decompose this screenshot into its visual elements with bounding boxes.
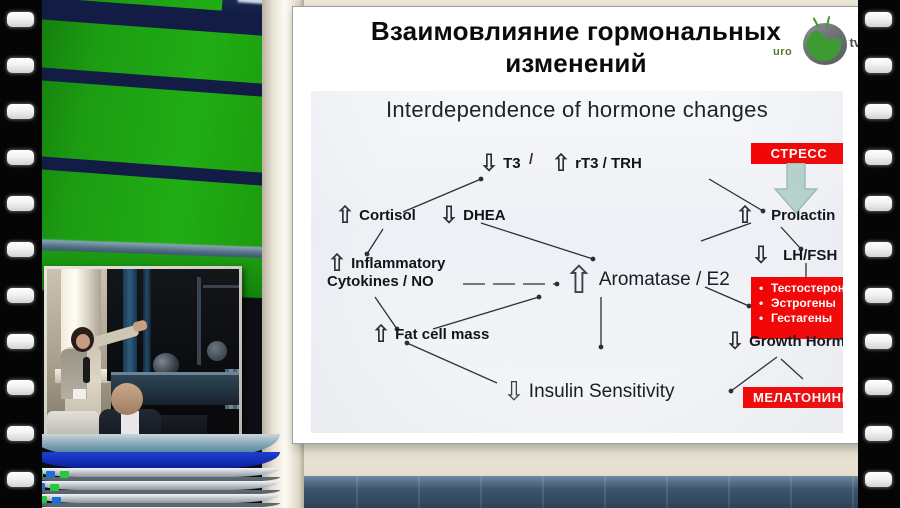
desk-band — [30, 481, 280, 490]
photo-audience-member-head — [111, 383, 143, 415]
filmstrip-sprocket-hole — [7, 242, 34, 257]
photo-speaker-badge — [73, 389, 86, 399]
sex-hormone-testosterone: Тестостерон — [771, 281, 843, 295]
node-rt3-trh-label: rT3 / TRH — [575, 155, 642, 172]
filmstrip-sprocket-hole — [7, 426, 34, 441]
logo-dot-icon — [809, 31, 824, 46]
desk-band — [30, 494, 280, 503]
arrow-down-icon: ⇩ — [439, 203, 459, 227]
filmstrip-sprocket-hole — [865, 472, 892, 487]
filmstrip-sprocket-hole — [865, 58, 892, 73]
node-cytokines-label: Cytokines / NO — [327, 273, 434, 290]
bullet-icon: • — [759, 311, 771, 326]
node-rt3-trh: ⇧ rT3 / TRH — [551, 151, 642, 175]
urotv-logo: uro tv — [771, 15, 860, 71]
video-player-frame: Взаимовлияние гормональных изменений uro… — [0, 0, 900, 508]
node-fat-cell-mass: ⇧ Fat cell mass — [371, 322, 489, 346]
node-t3: ⇩ T3 — [479, 151, 521, 175]
bullet-icon: • — [759, 296, 771, 311]
speaker-photo-content — [47, 269, 239, 435]
studio-news-desk — [30, 434, 280, 508]
node-cortisol-label: Cortisol — [359, 207, 416, 224]
speaker-inset-photo — [44, 266, 242, 438]
arrow-down-icon: ⇩ — [479, 151, 499, 175]
desk-led — [60, 471, 69, 478]
photo-light-rig — [203, 285, 239, 288]
filmstrip-left-border — [0, 0, 42, 508]
arrow-down-icon: ⇩ — [503, 379, 525, 405]
photo-stage-light — [207, 341, 227, 361]
slide-title-line-1: Взаимовлияние гормональных — [299, 15, 853, 47]
filmstrip-sprocket-hole — [865, 426, 892, 441]
slide-title-line-2: изменений — [299, 47, 853, 79]
filmstrip-sprocket-hole — [865, 12, 892, 27]
filmstrip-sprocket-hole — [865, 334, 892, 349]
presentation-slide: Взаимовлияние гормональных изменений uro… — [292, 6, 860, 444]
arrow-down-icon: ⇩ — [725, 329, 745, 353]
node-growth-hormone: ⇩ Growth Hormone — [725, 329, 843, 353]
node-separator: / — [529, 151, 533, 168]
desk-led — [50, 484, 59, 491]
desk-led — [46, 471, 55, 478]
photo-speaker-face — [76, 334, 90, 349]
filmstrip-sprocket-hole — [865, 242, 892, 257]
sex-hormone-gestagens: Гестагены — [771, 311, 832, 325]
photo-microphone — [83, 357, 90, 383]
node-dhea: ⇩ DHEA — [439, 203, 506, 227]
node-dhea-label: DHEA — [463, 207, 506, 224]
photo-audience-chair — [157, 415, 207, 435]
node-insulin-sensitivity-label: Insulin Sensitivity — [529, 381, 675, 403]
filmstrip-sprocket-hole — [7, 288, 34, 303]
logo-wordmark: uro — [773, 46, 792, 58]
filmstrip-sprocket-hole — [7, 104, 34, 119]
arrow-up-icon: ⇧ — [551, 151, 571, 175]
node-aromatase-label: Aromatase / E2 — [599, 269, 730, 291]
logo-emblem-icon — [803, 23, 847, 65]
photo-audience-chair — [47, 411, 99, 435]
desk-led — [52, 497, 61, 504]
arrow-up-icon: ⇧ — [335, 203, 355, 227]
desk-blue-accent — [30, 452, 280, 468]
melatonin-badge: МЕЛАТОНИНИ — [743, 387, 843, 408]
bullet-icon: • — [759, 281, 771, 296]
hormone-interdependence-diagram: Interdependence of hormone changes — [311, 91, 843, 433]
node-insulin-sensitivity: ⇩ Insulin Sensitivity — [503, 379, 675, 405]
filmstrip-sprocket-hole — [865, 288, 892, 303]
filmstrip-sprocket-hole — [865, 150, 892, 165]
filmstrip-sprocket-hole — [7, 150, 34, 165]
node-cortisol: ⇧ Cortisol — [335, 203, 416, 227]
stress-badge: СТРЕСС — [751, 143, 843, 164]
arrow-up-icon: ⇧ — [563, 261, 595, 299]
stress-down-arrow-icon — [773, 163, 819, 215]
separator-label: / — [529, 151, 533, 168]
node-cytokines: Cytokines / NO — [327, 273, 434, 290]
filmstrip-sprocket-hole — [865, 196, 892, 211]
filmstrip-sprocket-hole — [7, 196, 34, 211]
filmstrip-sprocket-hole — [7, 334, 34, 349]
green-screen-wall — [42, 0, 294, 272]
photo-light-rig — [197, 277, 201, 365]
node-fat-cell-mass-label: Fat cell mass — [395, 326, 489, 343]
filmstrip-sprocket-hole — [7, 12, 34, 27]
filmstrip-sprocket-hole — [7, 380, 34, 395]
arrow-up-icon: ⇧ — [371, 322, 391, 346]
filmstrip-right-border — [858, 0, 900, 508]
filmstrip-sprocket-hole — [7, 472, 34, 487]
sex-hormones-item: •Тестостерон — [759, 281, 843, 296]
filmstrip-sprocket-hole — [865, 104, 892, 119]
node-inflammatory-label: Inflammatory — [351, 255, 445, 272]
node-growth-hormone-label: Growth Hormone — [749, 333, 843, 350]
node-t3-label: T3 — [503, 155, 521, 172]
node-lh-fsh-label: LH/FSH — [783, 247, 837, 264]
room-floor-band — [294, 476, 858, 508]
sex-hormones-item: •Гестагены — [759, 311, 843, 326]
arrow-down-icon: ⇩ — [751, 243, 771, 267]
filmstrip-sprocket-hole — [865, 380, 892, 395]
filmstrip-sprocket-hole — [7, 58, 34, 73]
node-lh-fsh: ⇩ LH/FSH — [751, 243, 837, 267]
node-inflammatory: ⇧ Inflammatory — [327, 251, 445, 275]
sex-hormone-estrogens: Эстрогены — [771, 296, 836, 310]
sex-hormones-item: •Эстрогены — [759, 296, 843, 311]
arrow-up-icon: ⇧ — [735, 203, 755, 227]
node-aromatase: ⇧ Aromatase / E2 — [563, 261, 730, 299]
arrow-up-icon: ⇧ — [327, 251, 347, 275]
